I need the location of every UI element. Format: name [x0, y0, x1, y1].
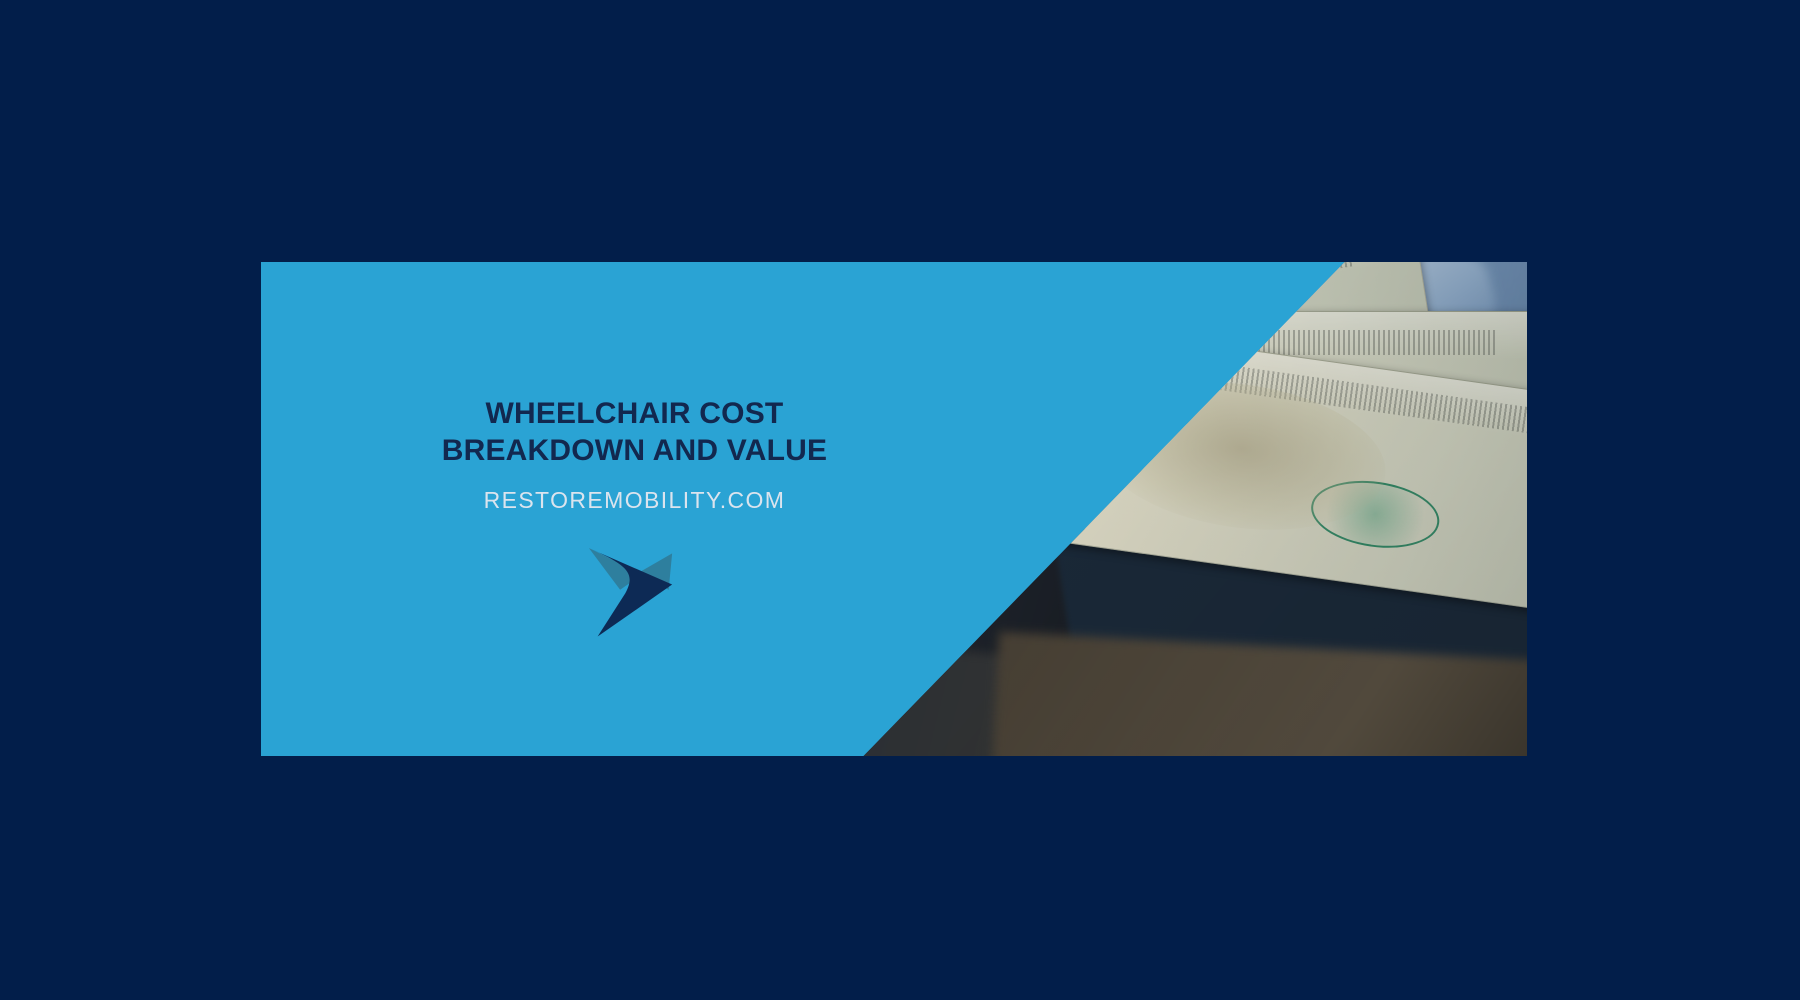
featured-banner-card[interactable]: 100 100 100 100 100 100 100 10: [261, 262, 1527, 756]
bill-microprint: [963, 330, 1496, 356]
bill-seal: [1307, 473, 1444, 555]
card-content: WHEELCHAIR COST BREAKDOWN AND VALUE REST…: [261, 262, 1008, 756]
page-title-line-1: WHEELCHAIR COST: [442, 396, 827, 433]
restoremobility-arrow-logo: [582, 536, 686, 640]
page-title: WHEELCHAIR COST BREAKDOWN AND VALUE: [442, 396, 827, 469]
page-title-line-2: BREAKDOWN AND VALUE: [442, 433, 827, 470]
floor-background: [992, 632, 1527, 756]
site-name-subtitle: RESTOREMOBILITY.COM: [484, 487, 786, 514]
